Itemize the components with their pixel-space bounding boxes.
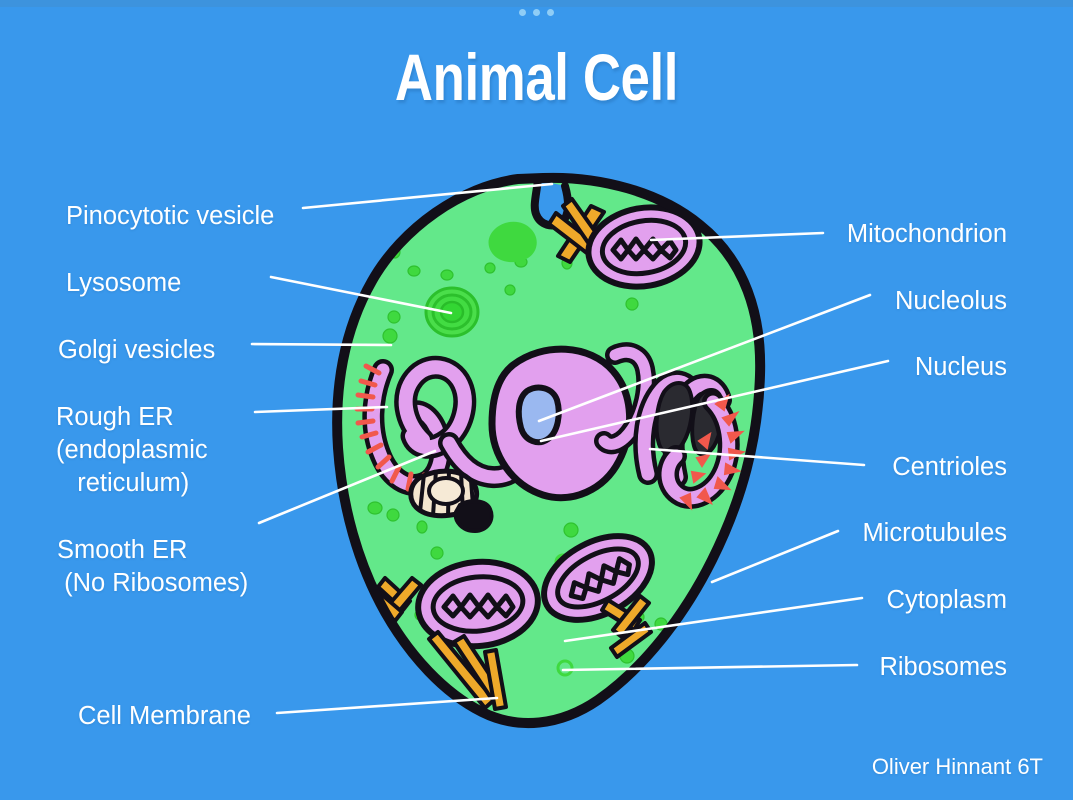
label-cytoplasm: Cytoplasm bbox=[0, 584, 1007, 617]
nucleolus-organelle bbox=[519, 388, 559, 443]
label-nucleolus: Nucleolus bbox=[0, 285, 1007, 318]
label-cell-membrane: Cell Membrane bbox=[78, 700, 251, 733]
label-microtubules: Microtubules bbox=[0, 517, 1007, 550]
label-centrioles: Centrioles bbox=[0, 451, 1007, 484]
slide-canvas: Animal Cell bbox=[0, 0, 1073, 800]
label-ribosomes: Ribosomes bbox=[0, 651, 1007, 684]
label-nucleus: Nucleus bbox=[0, 351, 1007, 384]
label-mitochondrion: Mitochondrion bbox=[0, 218, 1007, 251]
author-credit: Oliver Hinnant 6T bbox=[872, 754, 1043, 780]
